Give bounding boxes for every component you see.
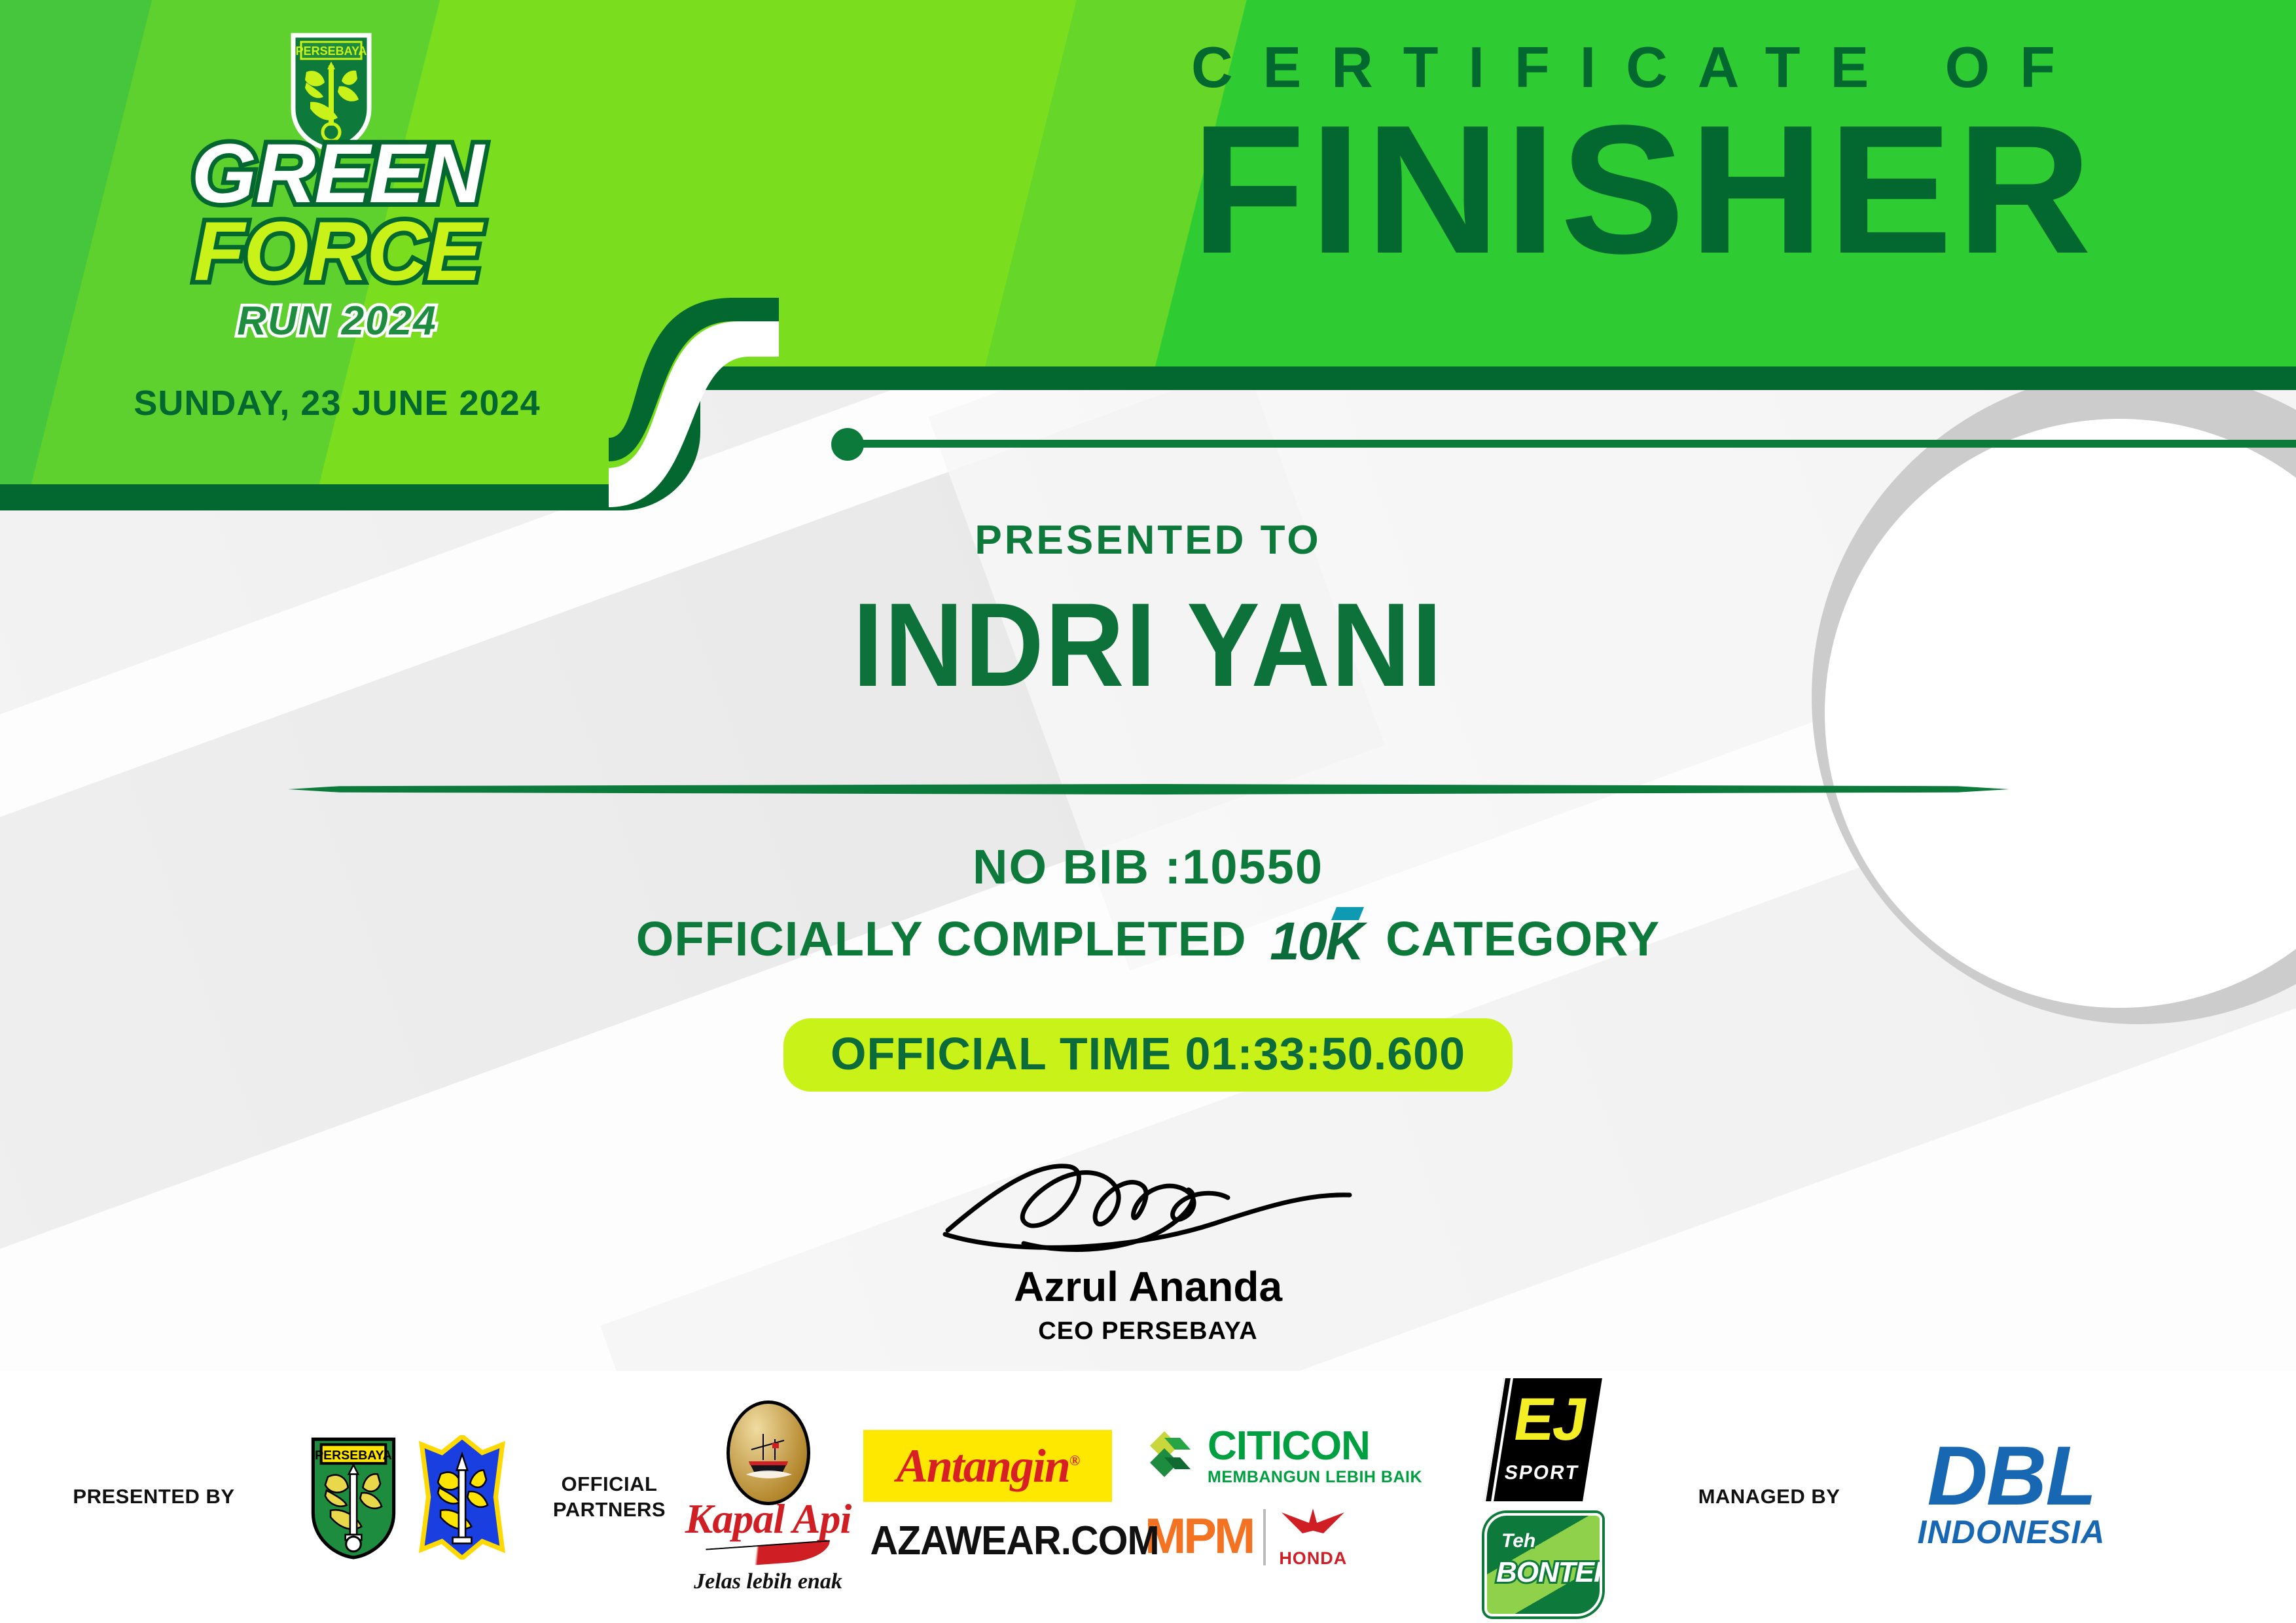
handwritten-signature (932, 1152, 1364, 1257)
sponsor-ej-sport-logo: E J SPORT (1484, 1378, 1602, 1501)
presented-by-label: PRESENTED BY (0, 1484, 308, 1510)
svg-text:PERSEBAYA: PERSEBAYA (315, 1448, 392, 1462)
ej-letter-j: J (1550, 1394, 1592, 1445)
sponsor-footer: PRESENTED BY PERSEBAYA (0, 1371, 2296, 1623)
sponsor-azawear-logo: AZAWEAR.COM (870, 1518, 1132, 1564)
honda-wing-icon (1276, 1506, 1350, 1544)
antangin-text: Antangin (897, 1440, 1069, 1492)
antangin-registered-icon: ® (1069, 1452, 1079, 1469)
bonteh-wordmark: BONTEH (1496, 1556, 1602, 1589)
signatory-name: Azrul Ananda (0, 1262, 2296, 1311)
svg-text:PERSEBAYA: PERSEBAYA (296, 45, 367, 58)
bonteh-teh-text: Teh (1501, 1530, 1535, 1552)
citicon-mark-icon (1145, 1426, 1198, 1489)
antangin-wordmark: Antangin® (897, 1439, 1079, 1493)
official-partners-line1: OFFICIAL (534, 1472, 685, 1497)
bib-line: NO BIB :10550 (0, 839, 2296, 895)
sponsor-persebaya-shield-icon: PERSEBAYA (308, 1435, 399, 1560)
dbl-wordmark: DBL (1880, 1443, 2142, 1510)
signatory-title: CEO PERSEBAYA (0, 1317, 2296, 1346)
completed-prefix: OFFICIALLY COMPLETED (636, 912, 1247, 966)
event-date: SUNDAY, 23 JUNE 2024 (79, 383, 596, 423)
green-force-run-logo: GREEN FORCE RUN 2024 (79, 137, 596, 344)
managed-by-label: MANAGED BY (1658, 1484, 1880, 1510)
header-s-curve (609, 298, 779, 507)
category-10k-tick-icon (1331, 907, 1363, 920)
sponsor-teh-bonteh-logo: Teh BONTEH (1484, 1513, 1602, 1616)
category-10k-text: 10K (1270, 912, 1362, 971)
sponsor-antangin-logo: Antangin® (863, 1430, 1112, 1502)
logo-word-run-year: RUN 2024 (79, 298, 596, 344)
honda-wordmark: HONDA (1276, 1548, 1350, 1569)
logo-word-force: FORCE (79, 215, 596, 289)
honda-logo: HONDA (1276, 1506, 1350, 1569)
sponsor-ej-bonteh-group: E J SPORT Teh BONTEH (1462, 1378, 1625, 1616)
official-partners-line2: PARTNERS (534, 1497, 685, 1523)
sponsor-dbl-indonesia-logo: DBL INDONESIA (1880, 1443, 2142, 1550)
kapal-api-swoosh-icon (706, 1540, 831, 1568)
mpm-wordmark: MPM (1145, 1514, 1253, 1559)
header-bullet-rule (831, 440, 2296, 449)
citicon-tagline: MEMBANGUN LEBIH BAIK (1208, 1468, 1422, 1487)
logo-word-green: GREEN (79, 137, 596, 211)
category-10k-logo: 10K (1270, 911, 1362, 972)
completed-suffix: CATEGORY (1386, 912, 1660, 966)
kapal-api-ship-emblem-icon (726, 1400, 810, 1505)
sponsor-mpm-honda-logo: MPM HONDA (1145, 1506, 1459, 1569)
official-time-badge: OFFICIAL TIME 01:33:50.600 (783, 1018, 1513, 1092)
bib-number: 10550 (1182, 840, 1323, 894)
bib-label: NO BIB : (973, 840, 1182, 894)
sponsor-kapal-api-logo: Kapal Api Jelas lebih enak (685, 1400, 852, 1594)
kapal-api-tagline: Jelas lebih enak (685, 1569, 852, 1594)
signature-block: Azrul Ananda CEO PERSEBAYA (0, 1152, 2296, 1346)
citicon-wordmark: CITICON (1208, 1427, 1422, 1466)
name-divider-rule (288, 784, 2009, 794)
official-partners-label: OFFICIAL PARTNERS (534, 1472, 685, 1523)
sponsor-antangin-azawear-group: Antangin® AZAWEAR.COM (863, 1430, 1138, 1564)
ej-sport-tagline: SPORT (1503, 1462, 1581, 1484)
sponsor-citicon-mpm-group: CITICON MEMBANGUN LEBIH BAIK MPM HONDA (1145, 1426, 1459, 1569)
dbl-indonesia-text: INDONESIA (1880, 1513, 2142, 1551)
header-dark-underline (671, 366, 2296, 390)
completed-line: OFFICIALLY COMPLETED 10K CATEGORY (0, 907, 2296, 969)
finisher-title: FINISHER (1191, 98, 2096, 281)
sponsor-citicon-logo: CITICON MEMBANGUN LEBIH BAIK (1145, 1426, 1459, 1489)
certificate-page: PERSEBAYA GREEN FORCE RUN 2024 SUNDAY, 2… (0, 0, 2296, 1623)
recipient-name: INDRI YANI (92, 576, 2204, 713)
bullet-line (857, 440, 2296, 448)
presented-to-label: PRESENTED TO (0, 517, 2296, 563)
sponsor-surabaya-city-shield-icon (416, 1435, 508, 1560)
mpm-divider (1263, 1509, 1266, 1565)
